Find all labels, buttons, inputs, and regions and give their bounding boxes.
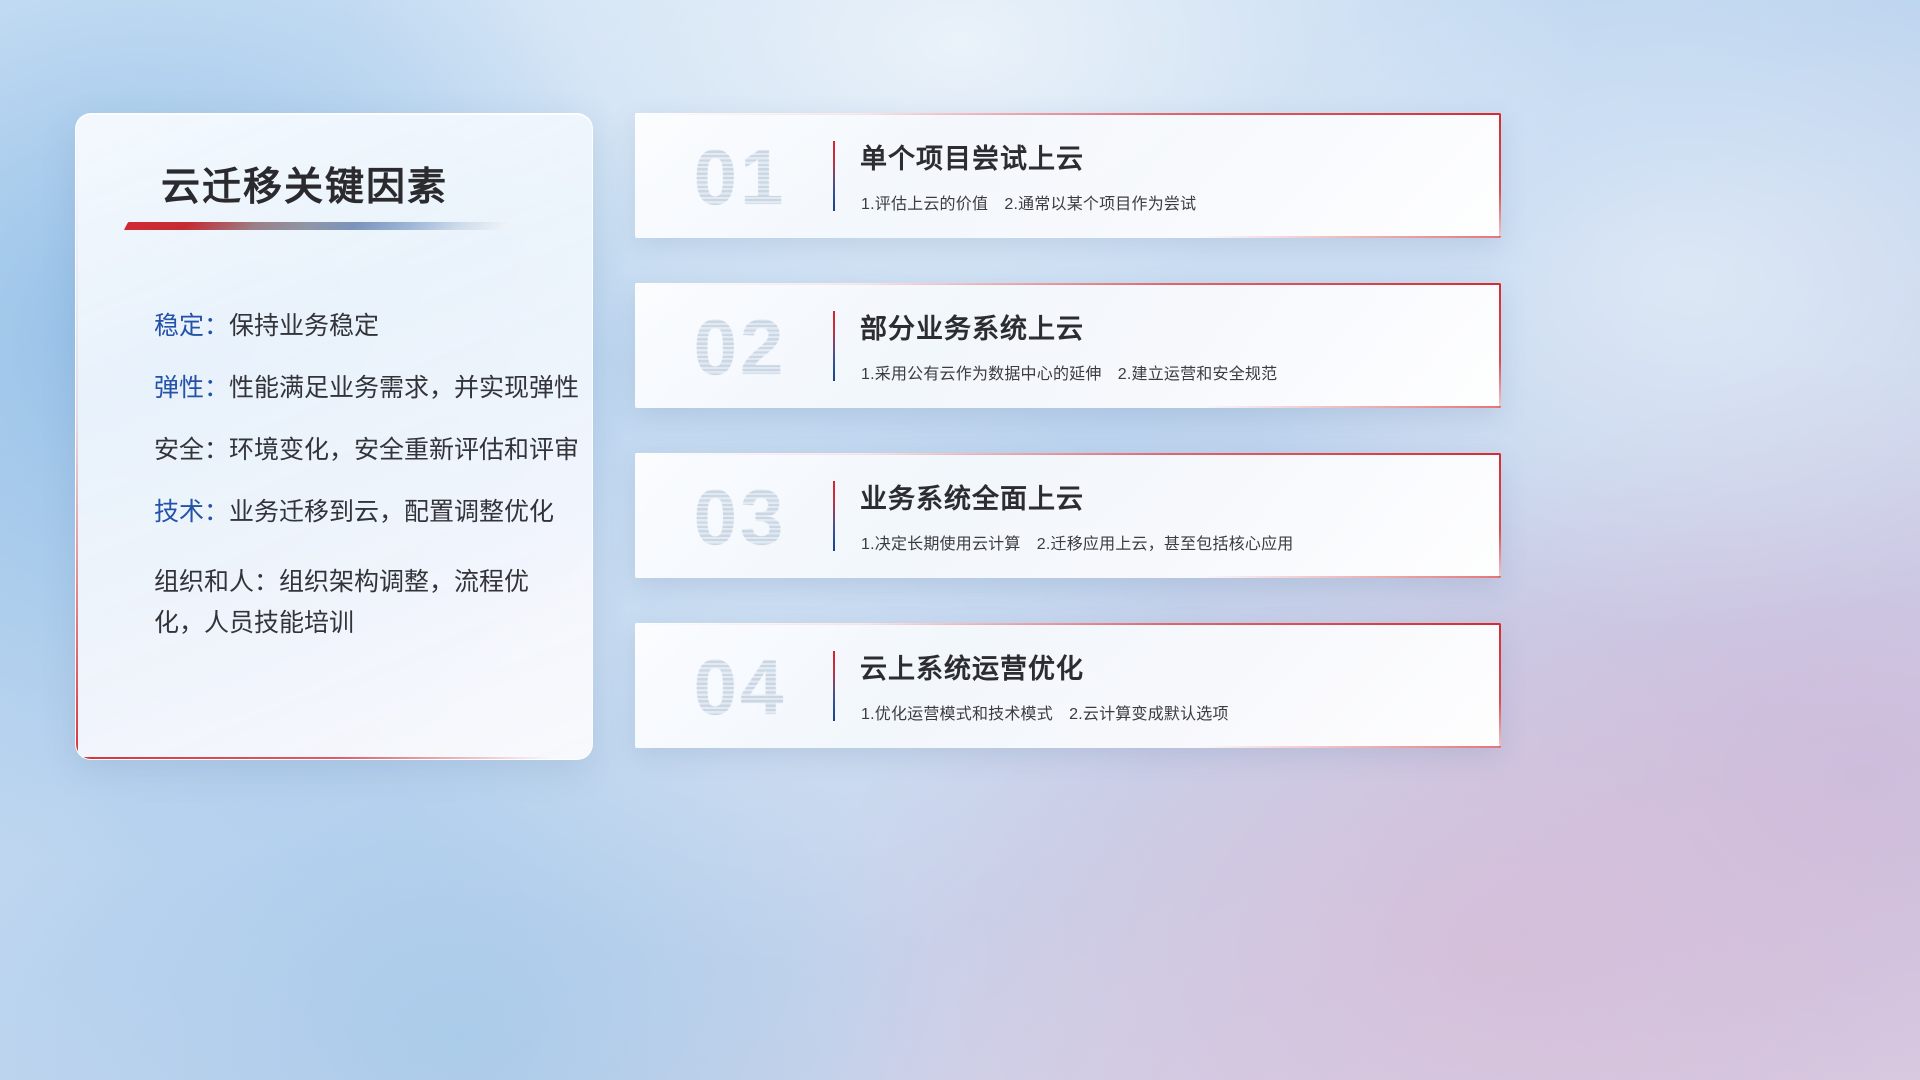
migration-step-card[interactable]: 04云上系统运营优化1.优化运营模式和技术模式 2.云计算变成默认选项 — [635, 623, 1501, 748]
key-factor-label: 组织和人： — [154, 568, 279, 596]
key-factor-value: 保持业务稳定 — [229, 312, 379, 340]
key-factor-value: 业务迁移到云，配置调整优化 — [229, 498, 554, 526]
step-description: 1.评估上云的价值 2.通常以某个项目作为尝试 — [861, 190, 1485, 214]
card-top-accent — [635, 453, 1501, 455]
page-title: 云迁移关键因素 — [161, 156, 581, 212]
step-title: 部分业务系统上云 — [860, 307, 1084, 346]
step-title: 业务系统全面上云 — [860, 477, 1084, 516]
step-divider-bar — [833, 311, 835, 381]
panel-left-accent-bar — [76, 128, 78, 759]
panel-bottom-accent-bar — [76, 757, 552, 759]
migration-step-card[interactable]: 02部分业务系统上云1.采用公有云作为数据中心的延伸 2.建立运营和安全规范 — [635, 283, 1501, 408]
card-bottom-accent — [1201, 576, 1501, 578]
step-description: 1.采用公有云作为数据中心的延伸 2.建立运营和安全规范 — [861, 360, 1485, 384]
key-factors-list: 稳定：保持业务稳定弹性：性能满足业务需求，并实现弹性安全：环境变化，安全重新评估… — [154, 314, 568, 680]
step-number-text: 04 — [694, 643, 787, 731]
migration-step-card[interactable]: 03业务系统全面上云1.决定长期使用云计算 2.迁移应用上云，甚至包括核心应用 — [635, 453, 1501, 578]
key-factors-panel: 云迁移关键因素 稳定：保持业务稳定弹性：性能满足业务需求，并实现弹性安全：环境变… — [75, 113, 593, 760]
card-right-accent — [1499, 283, 1501, 408]
key-factor-value: 性能满足业务需求，并实现弹性 — [229, 374, 579, 402]
step-divider-bar — [833, 481, 835, 551]
card-right-accent — [1499, 113, 1501, 238]
key-factor-value: 环境变化，安全重新评估和评审 — [229, 436, 579, 464]
card-top-accent — [635, 113, 1501, 115]
step-description: 1.优化运营模式和技术模式 2.云计算变成默认选项 — [861, 700, 1485, 724]
step-number-watermark: 03 — [655, 461, 825, 573]
step-title: 云上系统运营优化 — [860, 647, 1084, 686]
step-number-text: 02 — [694, 303, 787, 391]
card-top-accent — [635, 623, 1501, 625]
migration-step-card[interactable]: 01单个项目尝试上云1.评估上云的价值 2.通常以某个项目作为尝试 — [635, 113, 1501, 238]
step-divider-bar — [833, 651, 835, 721]
step-title: 单个项目尝试上云 — [860, 137, 1084, 176]
card-bottom-accent — [1201, 236, 1501, 238]
key-factor-label: 安全： — [154, 436, 229, 464]
step-number-text: 01 — [694, 133, 787, 221]
key-factor-label: 稳定： — [154, 312, 229, 340]
step-description: 1.决定长期使用云计算 2.迁移应用上云，甚至包括核心应用 — [861, 530, 1485, 554]
step-number-watermark: 04 — [655, 631, 825, 743]
key-factor-row: 弹性：性能满足业务需求，并实现弹性 — [154, 376, 568, 401]
step-divider-bar — [833, 141, 835, 211]
key-factor-row: 组织和人：组织架构调整，流程优化，人员技能培训 — [154, 562, 568, 643]
card-bottom-accent — [1201, 406, 1501, 408]
key-factor-row: 技术：业务迁移到云，配置调整优化 — [154, 500, 568, 525]
key-factor-row: 稳定：保持业务稳定 — [154, 314, 568, 339]
slide-stage: 云迁移关键因素 稳定：保持业务稳定弹性：性能满足业务需求，并实现弹性安全：环境变… — [0, 0, 1920, 1080]
card-right-accent — [1499, 623, 1501, 748]
step-number-text: 03 — [694, 473, 787, 561]
key-factor-label: 弹性： — [154, 374, 229, 402]
key-factor-label: 技术： — [154, 498, 229, 526]
title-underline-gradient — [124, 222, 508, 230]
step-number-watermark: 01 — [655, 121, 825, 233]
key-factor-row: 安全：环境变化，安全重新评估和评审 — [154, 438, 568, 463]
card-bottom-accent — [1201, 746, 1501, 748]
card-top-accent — [635, 283, 1501, 285]
card-right-accent — [1499, 453, 1501, 578]
step-number-watermark: 02 — [655, 291, 825, 403]
